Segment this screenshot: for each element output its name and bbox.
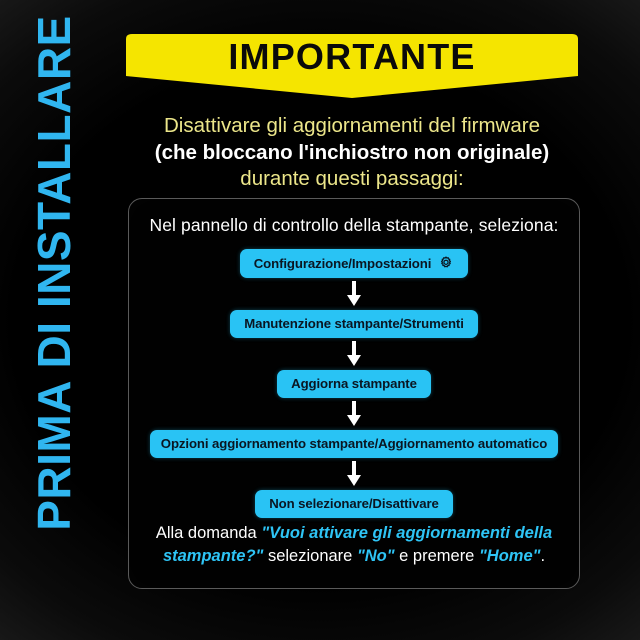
note-part-1: Alla domanda: [156, 524, 262, 542]
flow-step-configurazione[interactable]: Configurazione/Impostazioni: [240, 249, 469, 278]
gear-icon: [438, 255, 454, 271]
flow-step-label: Manutenzione stampante/Strumenti: [244, 316, 464, 331]
panel-heading: Nel pannello di controllo della stampant…: [129, 215, 579, 236]
flow-step-label: Opzioni aggiornamento stampante/Aggiorna…: [161, 436, 547, 451]
side-vertical-title: PRIMA DI INSTALLARE: [23, 0, 85, 563]
flow-arrow-icon: [346, 281, 362, 307]
note-part-2: selezionare: [263, 547, 357, 565]
flow-step-opzioni[interactable]: Opzioni aggiornamento stampante/Aggiorna…: [150, 430, 558, 458]
note-quote-no: "No": [357, 547, 395, 565]
flow-steps: Configurazione/Impostazioni Manutenzi: [129, 249, 579, 518]
banner-label: IMPORTANTE: [118, 33, 586, 81]
flow-arrow-icon: [346, 401, 362, 427]
flow-arrow-icon: [346, 461, 362, 487]
flow-step-label: Aggiorna stampante: [291, 376, 417, 391]
flow-step-label: Non selezionare/Disattivare: [269, 496, 439, 511]
note-quote-home: "Home": [479, 547, 541, 565]
flow-step-manutenzione[interactable]: Manutenzione stampante/Strumenti: [230, 310, 478, 338]
flow-step-label: Configurazione/Impostazioni: [254, 256, 432, 271]
poster-canvas: PRIMA DI INSTALLARE IMPORTANTE Disattiva…: [0, 0, 640, 640]
intro-line-2: (che bloccano l'inchiostro non originale…: [118, 140, 586, 167]
intro-paragraph: Disattivare gli aggiornamenti del firmwa…: [118, 113, 586, 193]
importante-banner: IMPORTANTE: [118, 33, 586, 99]
flow-step-non-selezionare[interactable]: Non selezionare/Disattivare: [255, 490, 453, 518]
flow-step-aggiorna[interactable]: Aggiorna stampante: [277, 370, 431, 398]
note-part-4: .: [540, 547, 545, 565]
intro-line-3: durante questi passaggi:: [118, 166, 586, 193]
panel-footer-note: Alla domanda "Vuoi attivare gli aggiorna…: [143, 522, 565, 568]
intro-line-1: Disattivare gli aggiornamenti del firmwa…: [118, 113, 586, 140]
note-part-3: e premere: [395, 547, 479, 565]
flow-arrow-icon: [346, 341, 362, 367]
flow-panel: Nel pannello di controllo della stampant…: [128, 198, 580, 589]
